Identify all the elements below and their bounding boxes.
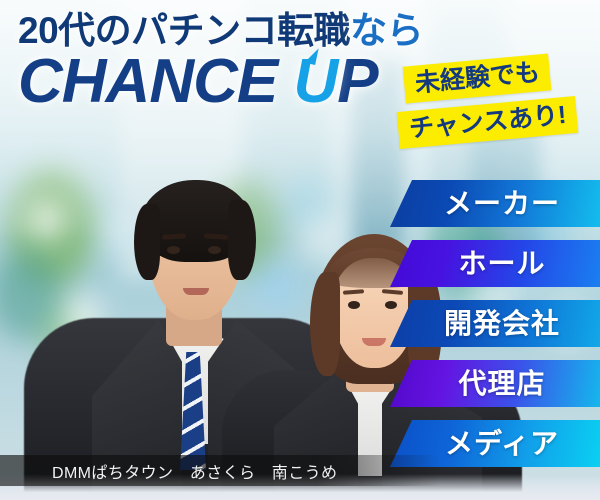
credit-text: DMMぱちタウン あさくら 南こうめ	[52, 459, 337, 483]
headline-chance-text: CHANCE	[18, 47, 293, 116]
category-button-hall[interactable]: ホール	[390, 240, 600, 287]
category-button-agency[interactable]: 代理店	[390, 360, 600, 407]
category-label: ホール	[458, 250, 545, 278]
category-button-maker[interactable]: メーカー	[390, 180, 600, 227]
headline-u-letter: U	[293, 51, 337, 113]
category-list: メーカー ホール 開発会社 代理店 メディア	[390, 180, 600, 480]
category-button-developer[interactable]: 開発会社	[390, 300, 600, 347]
category-label: メーカー	[444, 190, 560, 218]
headline-line-1: 20代のパチンコ転職なら	[18, 12, 423, 49]
category-label: メディア	[445, 430, 559, 458]
headline-p-letter: P	[337, 47, 377, 116]
headline: 20代のパチンコ転職なら CHANCE UP	[18, 12, 423, 113]
recruitment-banner: 20代のパチンコ転職なら CHANCE UP 未経験でも チャンスあり! メーカ…	[0, 0, 600, 500]
category-label: 開発会社	[444, 310, 560, 338]
headline-line-1-main: 20代のパチンコ転職	[18, 10, 350, 51]
headline-line-2: CHANCE UP	[18, 51, 423, 113]
credit-band: DMMぱちタウン あさくら 南こうめ	[0, 455, 440, 486]
category-label: 代理店	[458, 370, 545, 398]
headline-line-1-tail: なら	[350, 10, 423, 51]
